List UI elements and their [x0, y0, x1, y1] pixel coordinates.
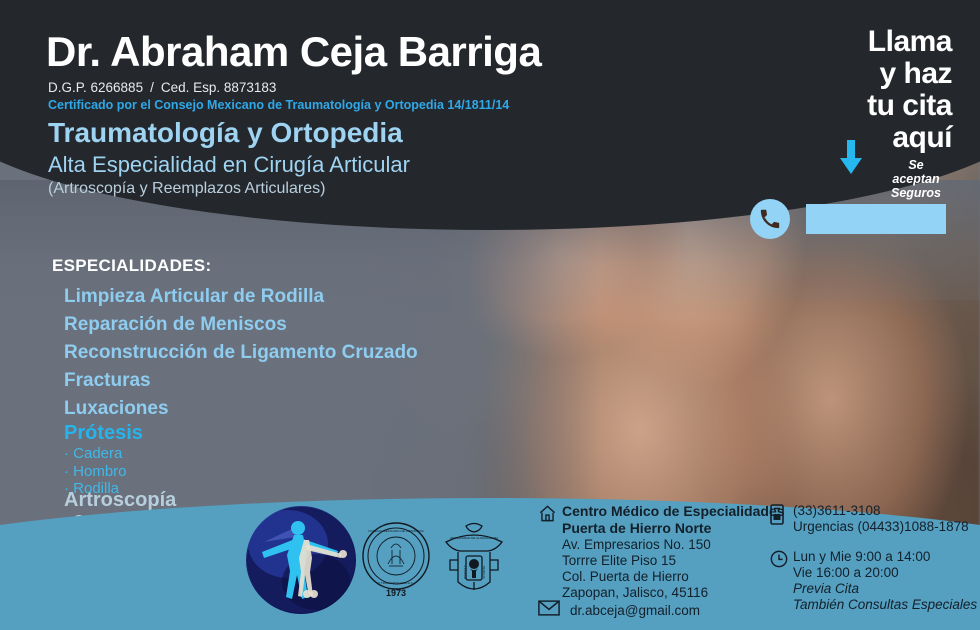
list-item: Reparación de Meniscos [64, 311, 418, 339]
mobile-phone-icon [770, 504, 793, 530]
cta-line-1: Llama [762, 26, 952, 58]
phone-handset-icon[interactable] [750, 199, 790, 239]
license-dgp: D.G.P. 6266885 [48, 80, 143, 95]
phone-number-field[interactable] [806, 204, 946, 234]
address-line-4: Zapopan, Jalisco, 45116 [562, 585, 708, 600]
phone-text: (33)3611-3108 Urgencias (04433)1088-1878 [793, 503, 969, 535]
specialty-main-title: Traumatología y Ortopedia [48, 117, 403, 149]
clinic-name-line2: Puerta de Hierro Norte [562, 520, 711, 536]
flyer-root: Dr. Abraham Ceja Barriga D.G.P. 6266885/… [0, 0, 980, 630]
home-icon [538, 504, 562, 528]
specialties-title: ESPECIALIDADES: [52, 256, 211, 276]
certification-line: Certificado por el Consejo Mexicano de T… [48, 98, 509, 112]
email-row[interactable]: dr.abceja@gmail.com [538, 599, 700, 621]
svg-text:PIENSA Y: PIENSA Y [463, 565, 467, 579]
specialty-note: (Artroscopía y Reemplazos Articulares) [48, 180, 325, 198]
list-item: Reconstrucción de Ligamento Cruzado [64, 339, 418, 367]
call-to-action-block: Llama y haz tu cita aquí [762, 26, 952, 154]
list-item: · Cadera [64, 445, 143, 463]
license-ced: Ced. Esp. 8873183 [161, 80, 277, 95]
contact-phone-hours-block: (33)3611-3108 Urgencias (04433)1088-1878… [770, 503, 977, 613]
svg-text:COLEGIO MEXICANO DE ORTOPEDIA: COLEGIO MEXICANO DE ORTOPEDIA [368, 529, 425, 533]
phone-emergency: Urgencias (04433)1088-1878 [793, 519, 969, 534]
address-line-2: Torrre Elite Piso 15 [562, 553, 676, 568]
hours-text: Lun y Mie 9:00 a 14:00 Vie 16:00 a 20:00… [793, 549, 977, 613]
svg-text:TRABAJA: TRABAJA [482, 565, 486, 579]
list-item: Fracturas [64, 367, 418, 395]
address-text: Centro Médico de Especialidades Puerta d… [562, 503, 785, 601]
cta-line-2: y haz [762, 58, 952, 90]
phone-main: (33)3611-3108 [793, 503, 881, 518]
clinic-name-line1: Centro Médico de Especialidades [562, 503, 785, 519]
envelope-icon [538, 600, 570, 621]
insurance-note: Se aceptan Seguros [884, 158, 948, 200]
hours-row: Lun y Mie 9:00 a 14:00 Vie 16:00 a 20:00… [770, 549, 977, 613]
seal-year: 1973 [386, 588, 406, 598]
group-title: Prótesis [64, 422, 143, 445]
list-item: Luxaciones [64, 395, 418, 423]
svg-text:Y TRAUMATOLOGIA A.C.: Y TRAUMATOLOGIA A.C. [378, 581, 414, 585]
arrow-down-icon [838, 140, 864, 174]
clock-icon [770, 550, 793, 573]
cta-line-3: tu cita [762, 90, 952, 122]
colegio-mexicano-ortopedia-seal: COLEGIO MEXICANO DE ORTOPEDIA Y TRAUMATO… [358, 520, 434, 600]
email-address[interactable]: dr.abceja@gmail.com [570, 603, 700, 618]
hours-note-2: También Consultas Especiales [793, 597, 977, 612]
svg-text:UNIVERSIDAD DE GUADALAJARA: UNIVERSIDAD DE GUADALAJARA [450, 536, 498, 540]
license-separator: / [150, 80, 154, 95]
license-line: D.G.P. 6266885/Ced. Esp. 8873183 [48, 80, 276, 95]
address-line-3: Col. Puerta de Hierro [562, 569, 689, 584]
list-item: · Hombro [64, 463, 143, 481]
specialty-subtitle: Alta Especialidad en Cirugía Articular [48, 152, 410, 178]
hours-line-1: Lun y Mie 9:00 a 14:00 [793, 549, 930, 564]
vitruvian-skeleton-logo [246, 506, 356, 614]
address-row: Centro Médico de Especialidades Puerta d… [538, 503, 785, 601]
doctor-name: Dr. Abraham Ceja Barriga [46, 28, 541, 76]
address-line-1: Av. Empresarios No. 150 [562, 537, 711, 552]
contact-address-block: Centro Médico de Especialidades Puerta d… [538, 503, 785, 601]
universidad-de-guadalajara-crest: UNIVERSIDAD DE GUADALAJARA PIENSA Y TRAB… [436, 520, 512, 600]
specialty-group-protesis: Prótesis · Cadera · Hombro · Rodilla [64, 422, 143, 498]
list-item: Limpieza Articular de Rodilla [64, 283, 418, 311]
hours-line-2: Vie 16:00 a 20:00 [793, 565, 899, 580]
hours-note-1: Previa Cita [793, 581, 859, 596]
specialties-list: Limpieza Articular de Rodilla Reparación… [64, 283, 418, 423]
phone-row: (33)3611-3108 Urgencias (04433)1088-1878 [770, 503, 977, 535]
